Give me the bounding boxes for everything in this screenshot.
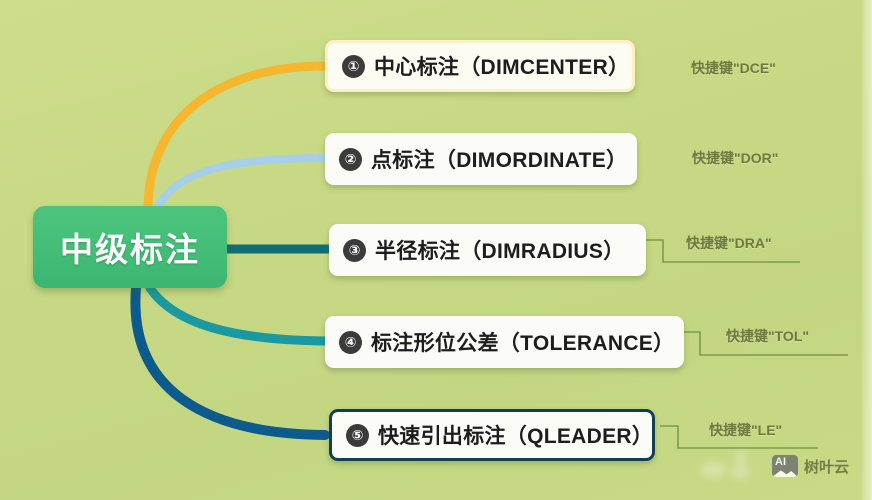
mountain-glyph: [772, 467, 798, 477]
branch-card-label-1: 中心标注（DIMCENTER）: [374, 51, 629, 81]
branch-card-label-2: 点标注（DIMORDINATE）: [371, 144, 627, 174]
background-artifact: [730, 466, 750, 478]
branch-note-5: 快捷键"LE": [709, 420, 782, 440]
branch-number-badge-3: ③: [343, 239, 366, 262]
branch-note-2: 快捷键"DOR": [692, 148, 778, 168]
edge-to-branch-5: [135, 288, 325, 435]
edge-to-branch-1: [148, 66, 325, 206]
right-edge-strip: [862, 0, 872, 500]
branch-card-label-5: 快速引出标注（QLEADER）: [378, 420, 653, 450]
branch-card-4[interactable]: ④ 标注形位公差（TOLERANCE）: [325, 316, 684, 368]
branch-card-label-3: 半径标注（DIMRADIUS）: [375, 235, 625, 265]
branch-note-1: 快捷键"DCE": [691, 58, 776, 78]
branch-card-1[interactable]: ① 中心标注（DIMCENTER）: [325, 40, 635, 92]
mindmap-canvas: 中级标注 ① 中心标注（DIMCENTER） 快捷键"DCE" ② 点标注（DI…: [0, 0, 872, 500]
root-node-label: 中级标注: [60, 223, 200, 271]
ai-icon-label: AI: [775, 457, 786, 468]
background-artifact: [736, 450, 746, 468]
branch-number-badge-1: ①: [342, 55, 365, 78]
watermark: AI 树叶云: [772, 455, 849, 477]
ai-image-icon: AI: [772, 455, 798, 477]
branch-card-2[interactable]: ② 点标注（DIMORDINATE）: [325, 133, 637, 185]
edge-to-branch-2: [158, 158, 325, 206]
branch-card-label-4: 标注形位公差（TOLERANCE）: [371, 327, 674, 357]
branch-number-badge-5: ⑤: [346, 424, 369, 447]
branch-number-badge-4: ④: [339, 331, 362, 354]
branch-number-badge-2: ②: [339, 148, 362, 171]
branch-card-5[interactable]: ⑤ 快速引出标注（QLEADER）: [329, 409, 655, 461]
watermark-text: 树叶云: [804, 456, 849, 477]
branch-card-3[interactable]: ③ 半径标注（DIMRADIUS）: [329, 224, 646, 276]
root-node[interactable]: 中级标注: [33, 206, 227, 288]
background-artifact: [700, 462, 726, 478]
edge-to-branch-4: [150, 288, 325, 341]
branch-note-4: 快捷键"TOL": [726, 326, 809, 346]
branch-note-3: 快捷键"DRA": [686, 233, 772, 253]
